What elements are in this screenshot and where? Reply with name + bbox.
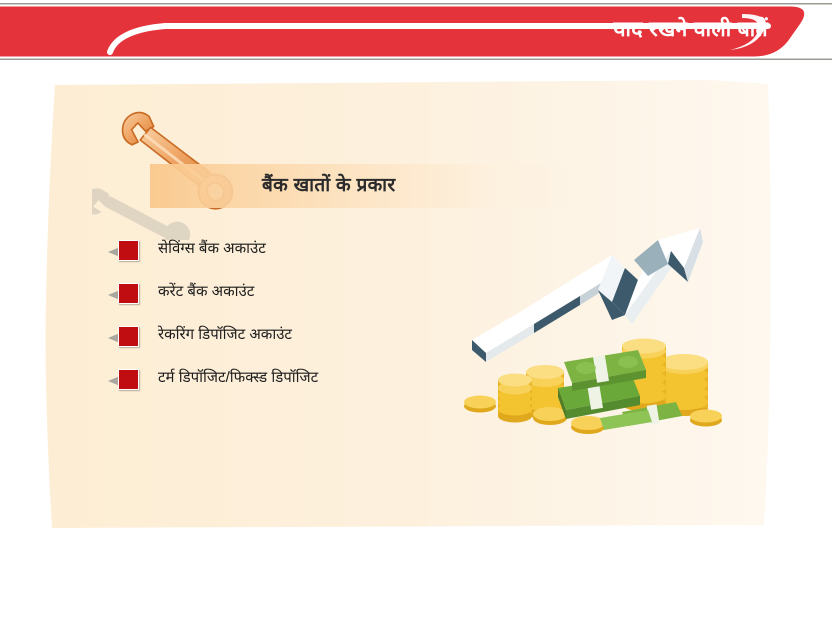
- list-item[interactable]: टर्म डिपॉजिट/फिक्स्ड डिपॉजिट: [108, 363, 488, 406]
- bullet-square-icon: [118, 283, 139, 304]
- coin-stack: [498, 374, 532, 423]
- header-banner: याद रखने वाली बातें: [0, 0, 832, 62]
- bullet-list: सेविंग्स बैंक अकाउंट करेंट बैंक अकाउंट र…: [108, 234, 488, 406]
- coin: [464, 396, 496, 409]
- page-title: याद रखने वाली बातें: [468, 16, 768, 44]
- bullet-square-icon: [118, 326, 139, 347]
- bullet-square-icon: [118, 240, 139, 261]
- list-item[interactable]: सेविंग्स बैंक अकाउंट: [108, 234, 488, 277]
- list-item-label: टर्म डिपॉजिट/फिक्स्ड डिपॉजिट: [158, 363, 318, 393]
- coin: [690, 410, 722, 423]
- bullet-square-icon: [118, 369, 139, 390]
- coin: [571, 416, 605, 430]
- list-item[interactable]: रेकरिंग डिपॉजिट अकाउंट: [108, 320, 488, 363]
- list-item-label: रेकरिंग डिपॉजिट अकाउंट: [158, 320, 292, 350]
- coin: [533, 407, 567, 421]
- section-heading: बैंक खातों के प्रकार: [262, 170, 395, 202]
- content-panel: बैंक खातों के प्रकार सेविंग्स बैंक अकाउं…: [0, 62, 832, 624]
- list-item-label: करेंट बैंक अकाउंट: [158, 277, 254, 307]
- list-item-label: सेविंग्स बैंक अकाउंट: [158, 234, 266, 264]
- growth-arrow-money-illustration: [462, 220, 742, 435]
- list-item[interactable]: करेंट बैंक अकाउंट: [108, 277, 488, 320]
